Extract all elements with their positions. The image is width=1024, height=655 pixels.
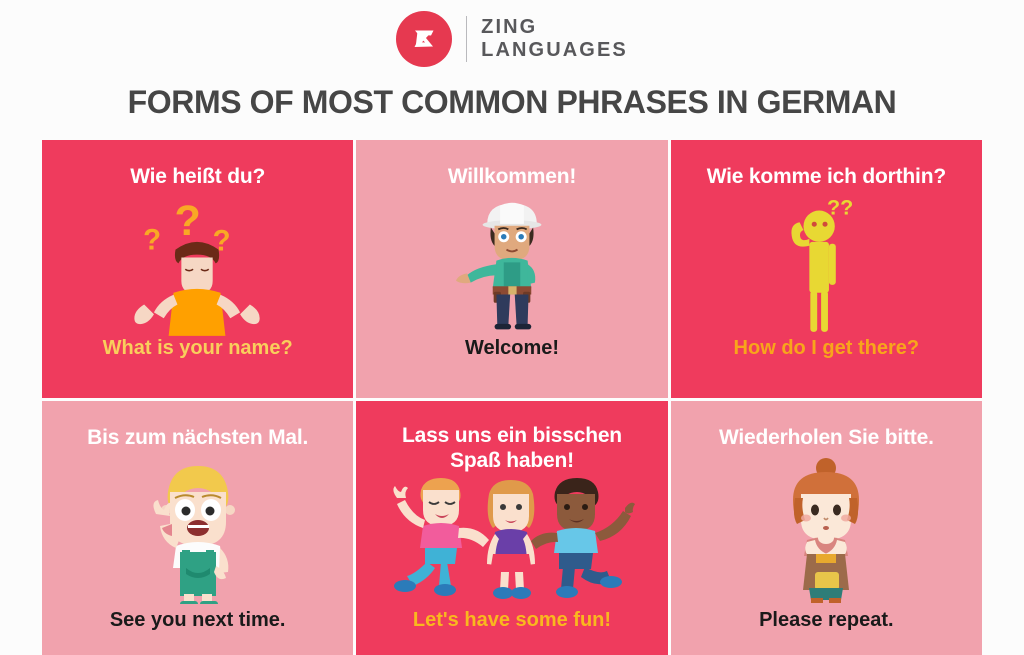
- infographic-page: ZING LANGUAGES FORMS OF MOST COMMON PHRA…: [0, 0, 1024, 655]
- phrase-card-5: Lass uns ein bisschen Spaß haben!: [356, 401, 667, 655]
- phrase-card-grid: Wie heißt du? ? ? ?: [42, 140, 982, 655]
- svg-text:?: ?: [143, 224, 161, 257]
- phrase-card-6: Wiederholen Sie bitte.: [671, 401, 982, 655]
- german-phrase: Bis zum nächsten Mal.: [87, 425, 308, 450]
- german-phrase-line-1: Lass uns ein bisschen: [402, 423, 622, 448]
- confused-person-shrugging-with-question-marks-icon: ? ? ?: [48, 189, 347, 336]
- german-phrase: Willkommen!: [448, 164, 576, 189]
- phrase-card-1: Wie heißt du? ? ? ?: [42, 140, 353, 398]
- brand-logo: ZING LANGUAGES: [0, 11, 1024, 67]
- brand-line-1: ZING: [481, 16, 628, 39]
- brand-line-2: LANGUAGES: [481, 39, 628, 62]
- phrase-card-3: Wie komme ich dorthin? ?? Ho: [671, 140, 982, 398]
- girl-with-apron-hands-clasped-icon: [677, 450, 976, 608]
- logo-divider: [466, 16, 467, 62]
- page-title: FORMS OF MOST COMMON PHRASES IN GERMAN: [0, 84, 1024, 121]
- three-dancing-children-icon: [362, 473, 661, 608]
- english-translation: Let's have some fun!: [413, 608, 611, 632]
- german-phrase: Wiederholen Sie bitte.: [719, 425, 934, 450]
- brand-wordmark: ZING LANGUAGES: [481, 16, 628, 62]
- svg-text:?: ?: [174, 197, 200, 245]
- german-phrase: Lass uns ein bisschen Spaß haben!: [402, 423, 622, 473]
- yellow-stick-figure-scratching-head-icon: ??: [677, 189, 976, 336]
- german-phrase: Wie heißt du?: [130, 164, 265, 189]
- english-translation: How do I get there?: [734, 336, 920, 360]
- construction-worker-pointing-icon: [362, 189, 661, 336]
- english-translation: What is your name?: [103, 336, 293, 360]
- phrase-card-2: Willkommen!: [356, 140, 667, 398]
- english-translation: See you next time.: [110, 608, 286, 632]
- german-phrase: Wie komme ich dorthin?: [707, 164, 946, 189]
- phrase-card-4: Bis zum nächsten Mal.: [42, 401, 353, 655]
- english-translation: Please repeat.: [759, 608, 894, 632]
- english-translation: Welcome!: [465, 336, 559, 360]
- svg-text:??: ??: [827, 196, 853, 220]
- german-phrase-line-2: Spaß haben!: [402, 448, 622, 473]
- waving-toddler-in-green-overalls-icon: [48, 450, 347, 608]
- zing-z-logo-icon: [396, 11, 452, 67]
